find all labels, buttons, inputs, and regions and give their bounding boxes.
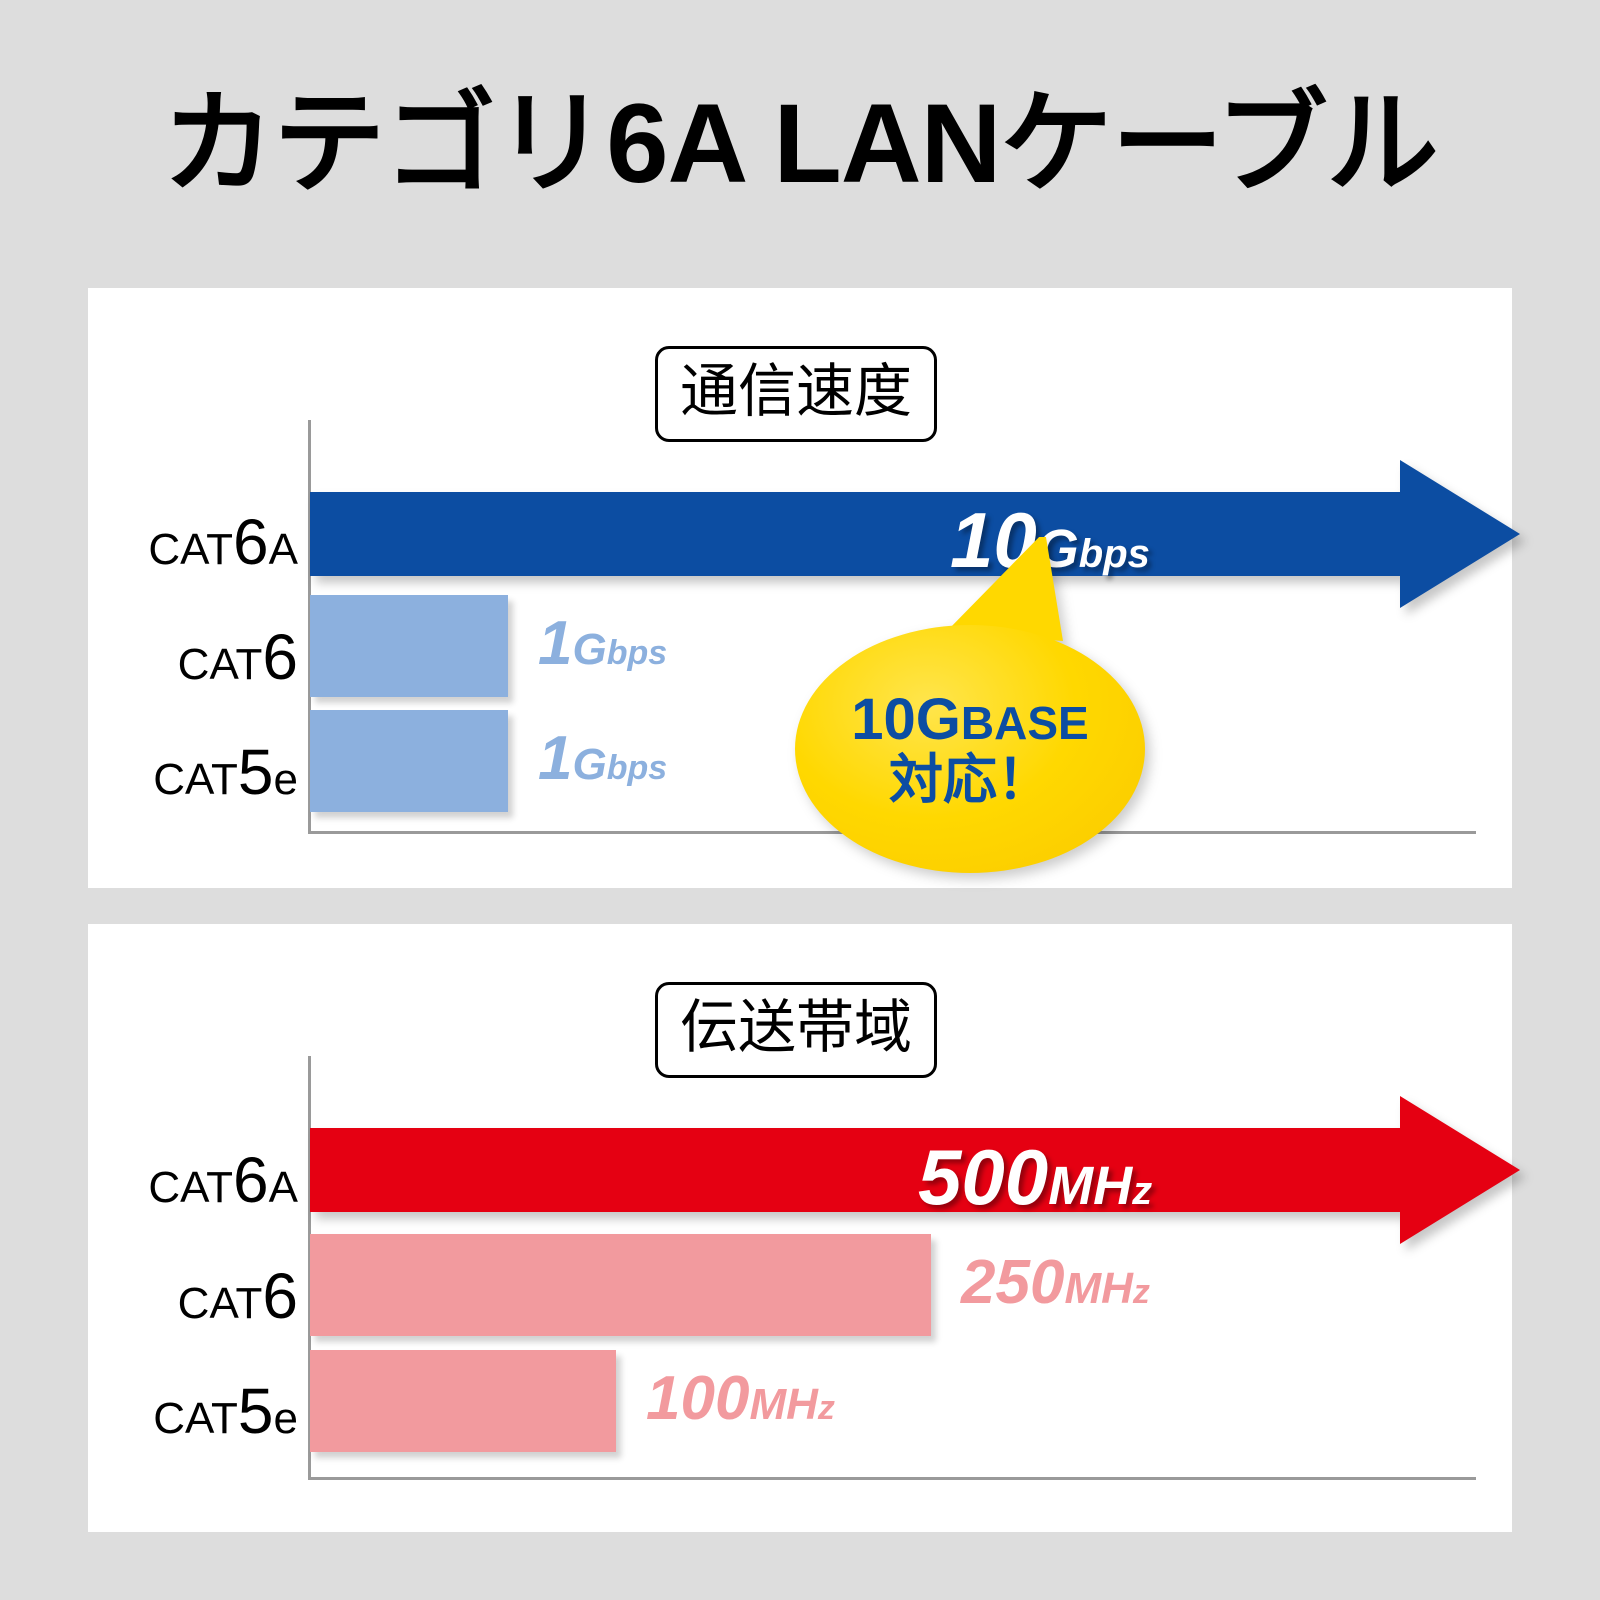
bar-value-cat5e-speed: 1Gbps: [538, 728, 667, 790]
category-label-cat6a: CAT6A: [98, 1148, 298, 1212]
value-number: 250: [961, 1248, 1064, 1317]
bar-value-cat6-bandwidth: 250MHz: [961, 1252, 1150, 1314]
section-label-transmission-bandwidth: 伝送帯域: [655, 982, 937, 1078]
callout-10gbase: 10GBASE 対応！: [795, 625, 1145, 873]
category-label-cat6a: CAT6A: [98, 510, 298, 574]
value-unit-rest: z: [818, 1389, 835, 1427]
bar-value-cat5e-bandwidth: 100MHz: [646, 1368, 835, 1430]
bar-cat6-speed: [310, 595, 508, 697]
callout-base-text: BASE: [961, 697, 1089, 749]
value-unit-lead: MH: [1064, 1264, 1132, 1313]
value-number: 100: [646, 1364, 749, 1433]
category-number: 5: [238, 736, 274, 808]
category-number: 6: [233, 506, 269, 578]
value-unit-rest: z: [1133, 1273, 1150, 1311]
bar-arrow-cat6a-bandwidth: [310, 1096, 1520, 1244]
x-axis-line: [308, 1477, 1476, 1480]
category-number: 5: [238, 1375, 274, 1447]
category-label-cat6: CAT6: [98, 625, 298, 689]
category-suffix: A: [269, 1163, 298, 1212]
category-prefix: CAT: [148, 1163, 233, 1212]
value-unit-lead: MH: [1048, 1156, 1132, 1216]
category-label-cat5e: CAT5e: [98, 1379, 298, 1443]
callout-10g-text: 10G: [851, 687, 961, 752]
panel-transmission-bandwidth: 伝送帯域 CAT6A CAT6 CAT5e 500MHz 250MHz 100M…: [88, 924, 1512, 1532]
category-number: 6: [262, 1260, 298, 1332]
category-suffix: e: [274, 755, 298, 804]
category-label-cat5e: CAT5e: [98, 740, 298, 804]
bar-cat5e-bandwidth: [310, 1350, 616, 1452]
category-number: 6: [262, 621, 298, 693]
category-prefix: CAT: [178, 1279, 263, 1328]
category-suffix: e: [274, 1394, 298, 1443]
page-title: カテゴリ6A LANケーブル: [0, 88, 1600, 200]
category-prefix: CAT: [153, 755, 238, 804]
value-unit-lead: G: [572, 625, 606, 674]
value-unit-rest: z: [1132, 1169, 1152, 1213]
bar-cat5e-speed: [310, 710, 508, 812]
value-unit-rest: bps: [607, 749, 667, 787]
category-prefix: CAT: [178, 640, 263, 689]
value-number: 1: [538, 609, 572, 678]
category-prefix: CAT: [153, 1394, 238, 1443]
section-label-communication-speed: 通信速度: [655, 346, 937, 442]
bar-value-cat6a-bandwidth: 500MHz: [918, 1138, 1152, 1216]
value-number: 1: [538, 724, 572, 793]
category-prefix: CAT: [148, 525, 233, 574]
callout-text: 10GBASE 対応！: [795, 625, 1145, 873]
category-suffix: A: [269, 525, 298, 574]
category-number: 6: [233, 1144, 269, 1216]
value-number: 500: [918, 1133, 1048, 1221]
bar-value-cat6-speed: 1Gbps: [538, 613, 667, 675]
callout-line-2: 対応！: [889, 753, 1051, 808]
value-unit-lead: MH: [749, 1380, 817, 1429]
value-unit-rest: bps: [607, 634, 667, 672]
category-label-cat6: CAT6: [98, 1264, 298, 1328]
bar-cat6-bandwidth: [310, 1234, 931, 1336]
callout-line-1: 10GBASE: [851, 690, 1088, 749]
value-unit-lead: G: [572, 740, 606, 789]
